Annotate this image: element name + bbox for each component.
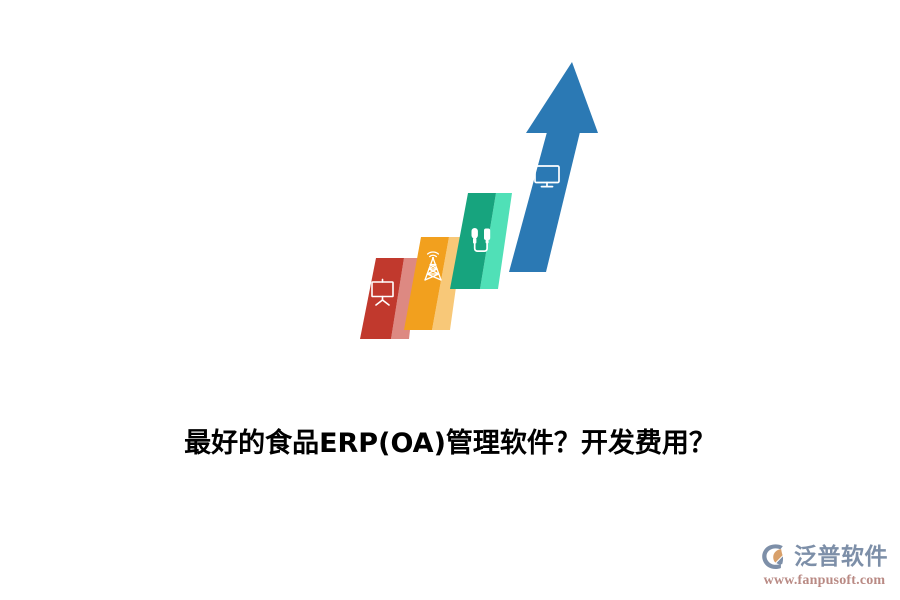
- fanpu-logo-svg: [760, 542, 790, 572]
- presentation-board-icon: [372, 279, 393, 305]
- bar-orange-face: [404, 237, 449, 330]
- bar-blue-arrow-shaft: [509, 132, 580, 272]
- rising-arrow-svg: [0, 0, 900, 600]
- brand-watermark: 泛普软件 www.fanpusoft.com: [760, 540, 888, 592]
- bar-orange-side: [432, 237, 463, 330]
- brand-lockup: 泛普软件: [760, 542, 888, 572]
- brand-name: 泛普软件: [794, 542, 888, 572]
- bar-red-face: [360, 258, 404, 339]
- broadcast-tower-icon: [425, 252, 441, 280]
- brand-url: www.fanpusoft.com: [761, 573, 888, 589]
- page-title: 最好的食品ERP(OA)管理软件？开发费用？: [0, 424, 900, 464]
- desktop-monitor-icon: [535, 166, 559, 187]
- bar-red-side: [391, 258, 418, 339]
- bar-blue-arrow-head: [526, 62, 598, 133]
- page-canvas: 最好的食品ERP(OA)管理软件？开发费用？ 泛普软件 www.fanpusof…: [0, 0, 900, 600]
- bar-teal-side: [480, 193, 512, 289]
- usb-cable-icon: [472, 228, 491, 251]
- rising-arrow-graphic: [0, 0, 900, 600]
- fanpu-logo-icon: [760, 542, 790, 572]
- bar-teal-face: [450, 193, 496, 289]
